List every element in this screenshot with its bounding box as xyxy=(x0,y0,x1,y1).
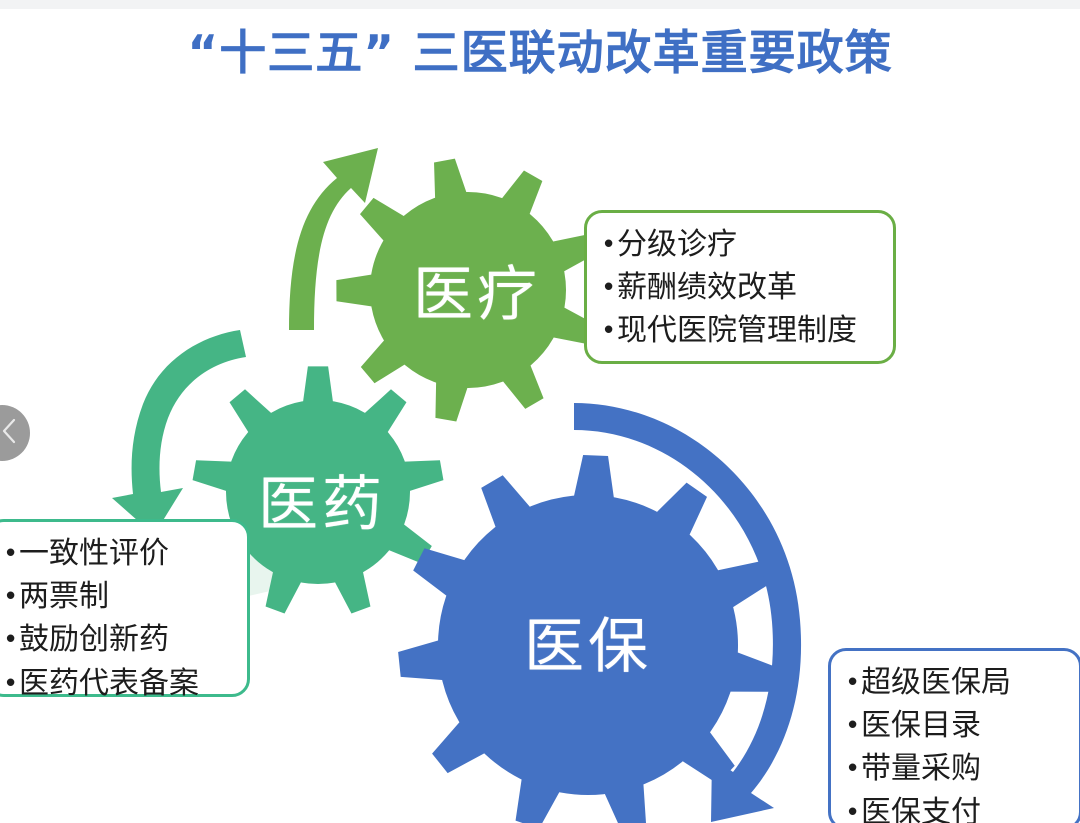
list-item: 超级医保局 xyxy=(845,661,1065,704)
list-item: 鼓励创新药 xyxy=(3,618,233,661)
list-item: 薪酬绩效改革 xyxy=(601,266,879,309)
list-item: 一致性评价 xyxy=(3,532,233,575)
callout-yibao: 超级医保局 医保目录 带量采购 医保支付 xyxy=(828,648,1080,823)
list-item: 两票制 xyxy=(3,575,233,618)
list-item: 现代医院管理制度 xyxy=(601,309,879,352)
list-item: 分级诊疗 xyxy=(601,223,879,266)
gear-label-yiyao: 医药 xyxy=(258,456,386,543)
list-item: 医药代表备案 xyxy=(3,662,233,705)
callout-yiyao: 一致性评价 两票制 鼓励创新药 医药代表备案 xyxy=(0,519,250,697)
callout-yibao-list: 超级医保局 医保目录 带量采购 医保支付 xyxy=(845,661,1065,823)
callout-yiyao-list: 一致性评价 两票制 鼓励创新药 医药代表备案 xyxy=(3,532,233,705)
arrow-down-teal-icon xyxy=(112,330,246,535)
gear-label-yiliao: 医疗 xyxy=(413,246,541,333)
slide-canvas: “十三五” 三医联动改革重要政策 医疗 医药 医保 分级诊疗 薪酬绩效改革 现代… xyxy=(0,0,1080,823)
callout-yiliao: 分级诊疗 薪酬绩效改革 现代医院管理制度 xyxy=(584,210,896,364)
chevron-left-icon xyxy=(0,418,17,449)
callout-yiliao-list: 分级诊疗 薪酬绩效改革 现代医院管理制度 xyxy=(601,223,879,353)
list-item: 医保支付 xyxy=(845,791,1065,823)
list-item: 医保目录 xyxy=(845,704,1065,747)
list-item: 带量采购 xyxy=(845,747,1065,790)
gear-label-yibao: 医保 xyxy=(524,598,652,685)
